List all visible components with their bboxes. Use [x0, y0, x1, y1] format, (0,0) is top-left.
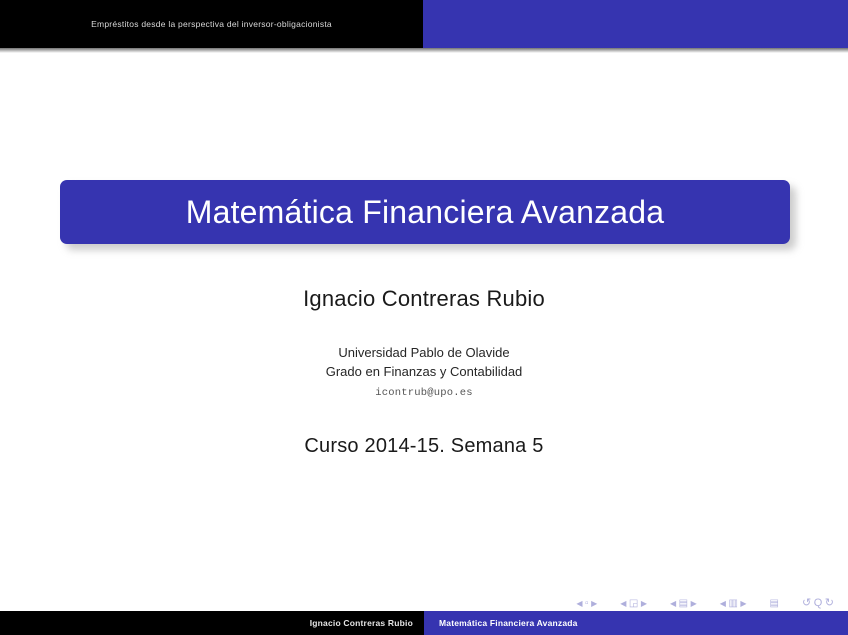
nav-prev-section-icon[interactable]: ◀ [720, 600, 726, 608]
nav-slide-group[interactable]: ◀ ▫ ▶ [576, 599, 597, 609]
nav-subsection-group[interactable]: ◀ ▤ ▶ [670, 599, 697, 609]
nav-next-frame-icon[interactable]: ▶ [641, 600, 647, 608]
nav-next-slide-icon[interactable]: ▶ [591, 600, 597, 608]
headline-accent-area [423, 0, 848, 48]
footline-author-area: Ignacio Contreras Rubio [0, 611, 424, 635]
nav-subsection-icon[interactable]: ▤ [679, 599, 688, 609]
slide-headline-bar: Empréstitos desde la perspectiva del inv… [0, 0, 848, 48]
nav-next-section-icon[interactable]: ▶ [740, 600, 746, 608]
footline-title-area: Matemática Financiera Avanzada [424, 611, 848, 635]
institute-block: Universidad Pablo de Olavide Grado en Fi… [0, 344, 848, 382]
author-email: icontrub@upo.es [0, 387, 848, 399]
headline-shadow [0, 48, 848, 53]
footline-title: Matemática Financiera Avanzada [439, 618, 578, 628]
institute-degree: Grado en Finanzas y Contabilidad [0, 363, 848, 382]
institute-university: Universidad Pablo de Olavide [0, 344, 848, 363]
beamer-navigation-symbols[interactable]: ◀ ▫ ▶ ◀ ◲ ▶ ◀ ▤ ▶ ◀ ▥ ▶ ▤ ↺ Q ↻ [576, 598, 834, 609]
headline-section-area: Empréstitos desde la perspectiva del inv… [0, 0, 423, 48]
nav-slide-icon[interactable]: ▫ [585, 599, 589, 609]
presentation-title: Matemática Financiera Avanzada [186, 194, 665, 231]
nav-frame-icon[interactable]: ◲ [629, 599, 638, 609]
nav-section-icon[interactable]: ▥ [728, 599, 737, 609]
nav-section-group[interactable]: ◀ ▥ ▶ [720, 599, 747, 609]
nav-search-icon[interactable]: Q [814, 598, 823, 609]
nav-frame-group[interactable]: ◀ ◲ ▶ [620, 599, 647, 609]
title-block: Matemática Financiera Avanzada [60, 180, 790, 244]
title-block-box: Matemática Financiera Avanzada [60, 180, 790, 244]
nav-prev-slide-icon[interactable]: ◀ [576, 600, 582, 608]
nav-prev-subsection-icon[interactable]: ◀ [670, 600, 676, 608]
nav-back-icon[interactable]: ↺ [802, 598, 811, 609]
author-name: Ignacio Contreras Rubio [0, 286, 848, 312]
nav-document-icon[interactable]: ▤ [770, 599, 779, 609]
footline-author: Ignacio Contreras Rubio [310, 618, 413, 628]
nav-forward-icon[interactable]: ↻ [825, 598, 834, 609]
nav-prev-frame-icon[interactable]: ◀ [620, 600, 626, 608]
course-term: Curso 2014-15. Semana 5 [0, 435, 848, 458]
nav-next-subsection-icon[interactable]: ▶ [691, 600, 697, 608]
beamer-title-slide: Empréstitos desde la perspectiva del inv… [0, 0, 848, 635]
slide-footline-bar: Ignacio Contreras Rubio Matemática Finan… [0, 611, 848, 635]
title-page-body: Ignacio Contreras Rubio Universidad Pabl… [0, 286, 848, 458]
nav-history-group[interactable]: ↺ Q ↻ [802, 598, 834, 609]
headline-section-title: Empréstitos desde la perspectiva del inv… [91, 19, 332, 29]
